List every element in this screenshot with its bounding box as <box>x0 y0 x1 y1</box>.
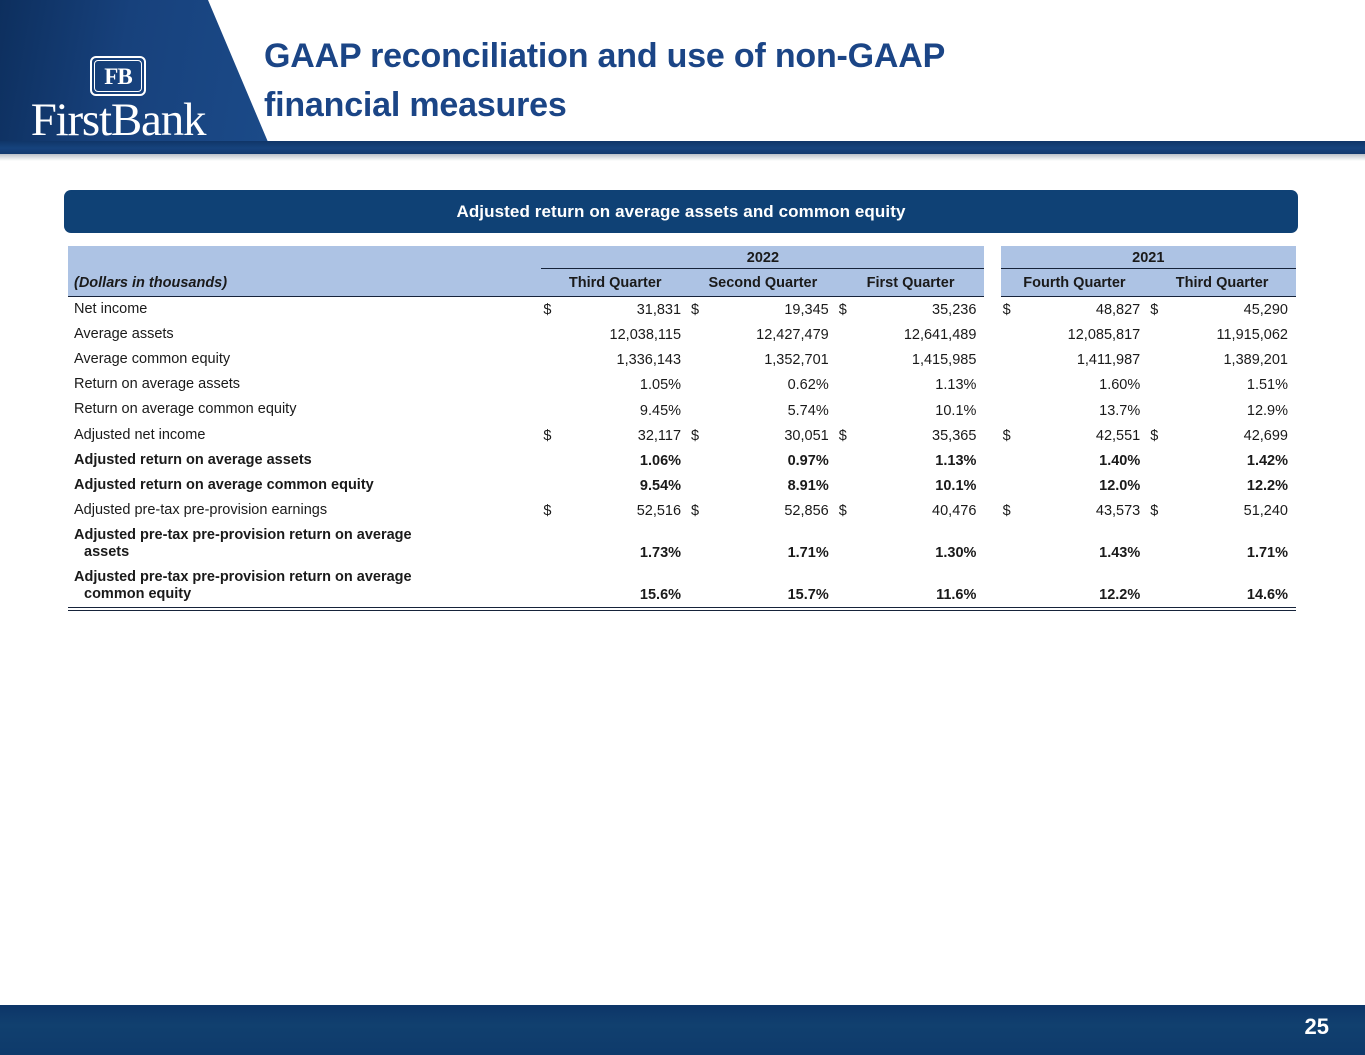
column-header-2021-q3: Third Quarter <box>1148 269 1296 297</box>
table-row: Average assets12,038,11512,427,47912,641… <box>68 322 1296 347</box>
table-cell-value: 1.13% <box>863 372 984 397</box>
table-row: Net income$31,831$19,345$35,236$48,827$4… <box>68 297 1296 323</box>
currency-symbol-cell: $ <box>1001 297 1027 323</box>
row-label: Return on average assets <box>68 372 541 397</box>
brand-logo-panel: FB FirstBank <box>0 0 268 142</box>
table-row: Adjusted pre-tax pre-provision return on… <box>68 565 1296 608</box>
row-label: Average assets <box>68 322 541 347</box>
year-group-gap-cell <box>984 565 1000 608</box>
table-cell-value: 12,085,817 <box>1027 322 1148 347</box>
year-group-gap-cell <box>984 498 1000 523</box>
table-cell-value: 1.40% <box>1027 448 1148 473</box>
currency-symbol-cell: $ <box>541 423 567 448</box>
table-cell-value: 42,699 <box>1175 423 1296 448</box>
currency-symbol-cell <box>837 322 863 347</box>
table-cell-value: 14.6% <box>1175 565 1296 608</box>
table-cell-value: 1,389,201 <box>1175 347 1296 372</box>
table-row: Return on average common equity9.45%5.74… <box>68 397 1296 422</box>
year-group-2021: 2021 <box>1001 246 1296 269</box>
currency-symbol-cell <box>689 565 715 608</box>
table-cell-value: 10.1% <box>863 397 984 422</box>
table-cell-value: 10.1% <box>863 473 984 498</box>
table-cell-value: 42,551 <box>1027 423 1148 448</box>
slide-title: GAAP reconciliation and use of non-GAAP … <box>264 32 1264 131</box>
table-cell-value: 43,573 <box>1027 498 1148 523</box>
currency-symbol-cell <box>1148 372 1174 397</box>
table-cell-value: 1.05% <box>568 372 689 397</box>
table-bottom-rule <box>68 610 1296 614</box>
currency-symbol-cell <box>837 448 863 473</box>
currency-symbol-cell: $ <box>837 297 863 323</box>
currency-symbol-cell: $ <box>1148 423 1174 448</box>
row-label: Adjusted pre-tax pre-provision earnings <box>68 498 541 523</box>
table-cell-value: 9.54% <box>568 473 689 498</box>
table-cell-value: 12.2% <box>1175 473 1296 498</box>
currency-symbol-cell <box>1001 448 1027 473</box>
table-cell-value: 13.7% <box>1027 397 1148 422</box>
financial-table-container: 2022 2021 (Dollars in thousands) Third Q… <box>68 246 1296 608</box>
currency-symbol-cell <box>689 523 715 565</box>
table-cell-value: 11.6% <box>863 565 984 608</box>
table-cell-value: 1.73% <box>568 523 689 565</box>
table-cell-value: 35,365 <box>863 423 984 448</box>
units-label: (Dollars in thousands) <box>68 269 541 297</box>
currency-symbol-cell <box>837 397 863 422</box>
table-cell-value: 1.51% <box>1175 372 1296 397</box>
table-cell-value: 31,831 <box>568 297 689 323</box>
slide-title-line-1: GAAP reconciliation and use of non-GAAP <box>264 32 1264 81</box>
table-cell-value: 1.30% <box>863 523 984 565</box>
table-cell-value: 1,352,701 <box>715 347 836 372</box>
year-row-spacer <box>68 246 541 269</box>
currency-symbol-cell: $ <box>541 498 567 523</box>
column-header-2022-q1: First Quarter <box>837 269 985 297</box>
table-row: Adjusted pre-tax pre-provision return on… <box>68 523 1296 565</box>
table-cell-value: 1.71% <box>715 523 836 565</box>
table-cell-value: 1.43% <box>1027 523 1148 565</box>
table-cell-value: 51,240 <box>1175 498 1296 523</box>
year-group-gap-cell <box>984 473 1000 498</box>
currency-symbol-cell <box>689 473 715 498</box>
currency-symbol-cell <box>837 565 863 608</box>
table-cell-value: 1.60% <box>1027 372 1148 397</box>
currency-symbol-cell: $ <box>1148 297 1174 323</box>
currency-symbol-cell <box>837 372 863 397</box>
currency-symbol-cell <box>837 473 863 498</box>
currency-symbol-cell: $ <box>837 498 863 523</box>
table-header: 2022 2021 (Dollars in thousands) Third Q… <box>68 246 1296 297</box>
table-row: Adjusted net income$32,117$30,051$35,365… <box>68 423 1296 448</box>
row-label: Net income <box>68 297 541 323</box>
currency-symbol-cell <box>1148 322 1174 347</box>
currency-symbol-cell <box>1148 448 1174 473</box>
row-label-line-2: assets <box>74 544 537 561</box>
currency-symbol-cell <box>1001 565 1027 608</box>
table-cell-value: 1.71% <box>1175 523 1296 565</box>
table-cell-value: 15.6% <box>568 565 689 608</box>
year-group-gap-cell <box>984 448 1000 473</box>
currency-symbol-cell: $ <box>689 297 715 323</box>
year-group-gap-cell <box>984 423 1000 448</box>
table-cell-value: 1.42% <box>1175 448 1296 473</box>
table-banner: Adjusted return on average assets and co… <box>64 190 1298 233</box>
row-label-line-1: Adjusted pre-tax pre-provision return on… <box>74 569 537 586</box>
currency-symbol-cell <box>837 347 863 372</box>
currency-symbol-cell <box>1001 322 1027 347</box>
row-label: Return on average common equity <box>68 397 541 422</box>
row-label: Adjusted pre-tax pre-provision return on… <box>68 565 541 608</box>
table-cell-value: 12,427,479 <box>715 322 836 347</box>
currency-symbol-cell: $ <box>1001 423 1027 448</box>
fb-monogram-label: FB <box>94 60 142 92</box>
row-label: Adjusted net income <box>68 423 541 448</box>
currency-symbol-cell: $ <box>689 498 715 523</box>
table-cell-value: 12.2% <box>1027 565 1148 608</box>
table-cell-value: 30,051 <box>715 423 836 448</box>
row-label-line-2: common equity <box>74 586 537 603</box>
table-header-quarter-row: (Dollars in thousands) Third Quarter Sec… <box>68 269 1296 297</box>
row-label: Average common equity <box>68 347 541 372</box>
table-cell-value: 1,336,143 <box>568 347 689 372</box>
currency-symbol-cell <box>541 448 567 473</box>
table-cell-value: 40,476 <box>863 498 984 523</box>
table-cell-value: 5.74% <box>715 397 836 422</box>
table-cell-value: 52,856 <box>715 498 836 523</box>
table-cell-value: 9.45% <box>568 397 689 422</box>
currency-symbol-cell <box>1001 372 1027 397</box>
table-cell-value: 12.0% <box>1027 473 1148 498</box>
table-cell-value: 1.13% <box>863 448 984 473</box>
currency-symbol-cell: $ <box>541 297 567 323</box>
currency-symbol-cell <box>541 322 567 347</box>
currency-symbol-cell <box>1001 473 1027 498</box>
currency-symbol-cell <box>541 347 567 372</box>
currency-symbol-cell <box>837 523 863 565</box>
currency-symbol-cell <box>1148 523 1174 565</box>
currency-symbol-cell <box>541 372 567 397</box>
year-group-gap-cell <box>984 523 1000 565</box>
table-cell-value: 15.7% <box>715 565 836 608</box>
table-cell-value: 8.91% <box>715 473 836 498</box>
currency-symbol-cell <box>689 397 715 422</box>
fb-monogram-icon: FB <box>90 56 146 96</box>
currency-symbol-cell <box>1148 347 1174 372</box>
table-row: Return on average assets1.05%0.62%1.13%1… <box>68 372 1296 397</box>
table-row: Average common equity1,336,1431,352,7011… <box>68 347 1296 372</box>
currency-symbol-cell <box>1001 397 1027 422</box>
table-cell-value: 0.62% <box>715 372 836 397</box>
year-group-gap-cell <box>984 322 1000 347</box>
currency-symbol-cell <box>541 565 567 608</box>
currency-symbol-cell <box>1001 523 1027 565</box>
currency-symbol-cell: $ <box>837 423 863 448</box>
table-body: Net income$31,831$19,345$35,236$48,827$4… <box>68 297 1296 608</box>
row-label: Adjusted return on average assets <box>68 448 541 473</box>
table-cell-value: 32,117 <box>568 423 689 448</box>
year-group-divider <box>984 246 1000 269</box>
currency-symbol-cell <box>689 347 715 372</box>
table-cell-value: 1,411,987 <box>1027 347 1148 372</box>
year-group-gap-cell <box>984 372 1000 397</box>
table-cell-value: 0.97% <box>715 448 836 473</box>
table-cell-value: 48,827 <box>1027 297 1148 323</box>
column-header-2022-q2: Second Quarter <box>689 269 837 297</box>
table-cell-value: 1,415,985 <box>863 347 984 372</box>
currency-symbol-cell <box>1148 565 1174 608</box>
table-header-year-row: 2022 2021 <box>68 246 1296 269</box>
table-cell-value: 45,290 <box>1175 297 1296 323</box>
table-cell-value: 11,915,062 <box>1175 322 1296 347</box>
table-cell-value: 12.9% <box>1175 397 1296 422</box>
table-cell-value: 1.06% <box>568 448 689 473</box>
row-label-line-1: Adjusted pre-tax pre-provision return on… <box>74 527 537 544</box>
page-number: 25 <box>1305 1014 1329 1040</box>
row-label: Adjusted pre-tax pre-provision return on… <box>68 523 541 565</box>
table-cell-value: 19,345 <box>715 297 836 323</box>
currency-symbol-cell <box>541 523 567 565</box>
table-row: Adjusted pre-tax pre-provision earnings$… <box>68 498 1296 523</box>
firstbank-logo: FB FirstBank <box>18 56 218 143</box>
table-cell-value: 52,516 <box>568 498 689 523</box>
currency-symbol-cell: $ <box>689 423 715 448</box>
table-row: Adjusted return on average assets1.06%0.… <box>68 448 1296 473</box>
slide-header: FB FirstBank GAAP reconciliation and use… <box>0 0 1365 142</box>
currency-symbol-cell: $ <box>1148 498 1174 523</box>
quarter-group-divider <box>984 269 1000 297</box>
header-divider-bar <box>0 141 1365 154</box>
year-group-gap-cell <box>984 347 1000 372</box>
row-label: Adjusted return on average common equity <box>68 473 541 498</box>
currency-symbol-cell <box>1001 347 1027 372</box>
table-row: Adjusted return on average common equity… <box>68 473 1296 498</box>
currency-symbol-cell <box>1148 473 1174 498</box>
column-header-2021-q4: Fourth Quarter <box>1001 269 1149 297</box>
currency-symbol-cell <box>541 473 567 498</box>
currency-symbol-cell <box>541 397 567 422</box>
currency-symbol-cell <box>689 372 715 397</box>
currency-symbol-cell <box>1148 397 1174 422</box>
slide-footer: 25 <box>0 1005 1365 1055</box>
year-group-gap-cell <box>984 397 1000 422</box>
currency-symbol-cell: $ <box>1001 498 1027 523</box>
header-drop-shadow <box>0 154 1365 161</box>
table-cell-value: 35,236 <box>863 297 984 323</box>
year-group-2022: 2022 <box>541 246 984 269</box>
table-banner-title: Adjusted return on average assets and co… <box>456 202 905 222</box>
firstbank-wordmark: FirstBank <box>18 97 218 143</box>
column-header-2022-q3: Third Quarter <box>541 269 689 297</box>
slide-title-line-2: financial measures <box>264 81 1264 130</box>
year-group-gap-cell <box>984 297 1000 323</box>
currency-symbol-cell <box>689 448 715 473</box>
table-cell-value: 12,038,115 <box>568 322 689 347</box>
table-cell-value: 12,641,489 <box>863 322 984 347</box>
financial-table: 2022 2021 (Dollars in thousands) Third Q… <box>68 246 1296 608</box>
currency-symbol-cell <box>689 322 715 347</box>
